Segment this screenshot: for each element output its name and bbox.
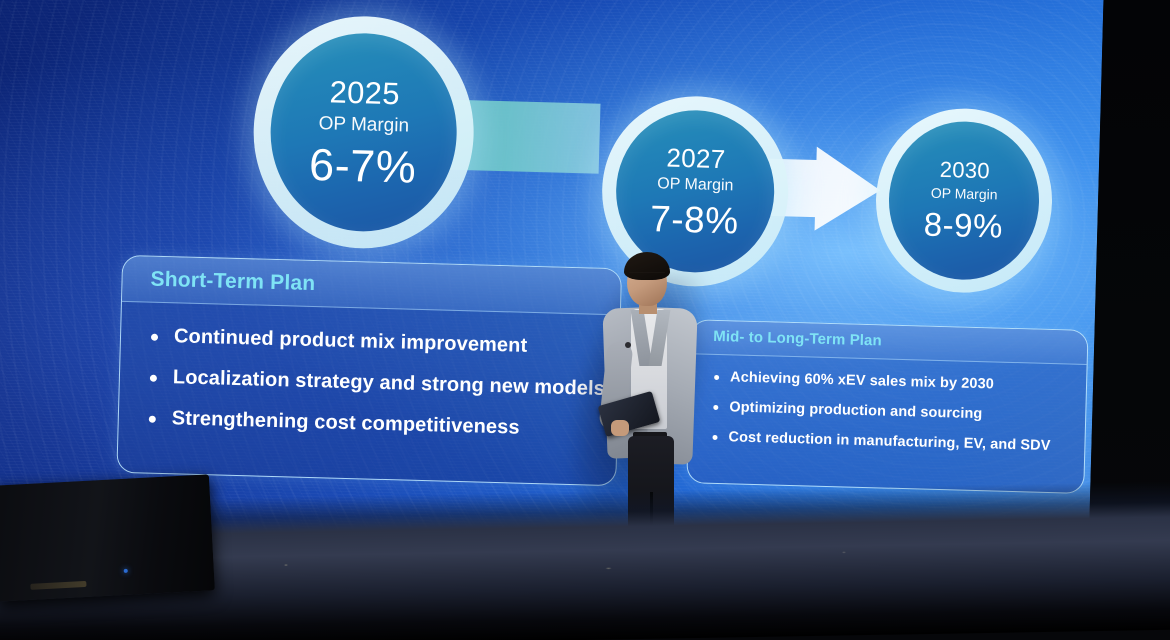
milestone-value: 7-8% <box>650 200 739 239</box>
glasses-icon <box>629 272 665 280</box>
bullet-icon <box>149 416 156 423</box>
stage-speaker-monitor <box>0 474 215 601</box>
bullet-text: Localization strategy and strong new mod… <box>173 366 606 401</box>
bullet-list: Achieving 60% xEV sales mix by 2030 Opti… <box>712 369 1086 455</box>
bullet-list: Continued product mix improvement Locali… <box>149 325 620 443</box>
panel-body: Achieving 60% xEV sales mix by 2030 Opti… <box>688 354 1086 455</box>
milestone-label: OP Margin <box>931 186 998 202</box>
bullet-text: Optimizing production and sourcing <box>729 399 982 422</box>
list-item: Strengthening cost competitiveness <box>149 407 617 443</box>
panel-title: Mid- to Long-Term Plan <box>713 328 1087 355</box>
mid-long-term-plan-panel: Mid- to Long-Term Plan Achieving 60% xEV… <box>686 319 1088 494</box>
list-item: Localization strategy and strong new mod… <box>150 366 618 402</box>
panel-title: Short-Term Plan <box>150 268 620 305</box>
short-term-plan-panel: Short-Term Plan Continued product mix im… <box>116 255 622 486</box>
milestone-label: OP Margin <box>318 114 409 135</box>
presentation-photo: 2025 OP Margin 6-7% 2027 OP Margin 7-8% … <box>0 0 1170 640</box>
bullet-icon <box>712 435 717 440</box>
milestone-label: OP Margin <box>657 176 734 194</box>
lapel-microphone-icon <box>625 342 631 348</box>
speaker-grill <box>30 581 86 590</box>
bullet-text: Cost reduction in manufacturing, EV, and… <box>728 429 1050 454</box>
list-item: Cost reduction in manufacturing, EV, and… <box>712 429 1084 455</box>
bullet-icon <box>713 405 718 410</box>
bullet-text: Continued product mix improvement <box>174 325 528 358</box>
hand-left <box>611 420 629 436</box>
list-item: Continued product mix improvement <box>151 325 619 361</box>
bullet-text: Achieving 60% xEV sales mix by 2030 <box>730 369 994 392</box>
milestone-year: 2027 <box>666 144 726 172</box>
panel-body: Continued product mix improvement Locali… <box>119 302 620 442</box>
milestone-value: 6-7% <box>309 141 417 189</box>
milestone-year: 2025 <box>329 76 400 109</box>
milestone-year: 2030 <box>939 159 990 182</box>
bullet-text: Strengthening cost competitiveness <box>172 407 520 439</box>
speaker-led-indicator <box>124 569 128 573</box>
milestone-value: 8-9% <box>923 208 1003 243</box>
bullet-icon <box>150 375 157 382</box>
list-item: Achieving 60% xEV sales mix by 2030 <box>714 369 1086 395</box>
bullet-icon <box>151 334 158 341</box>
list-item: Optimizing production and sourcing <box>713 399 1085 425</box>
